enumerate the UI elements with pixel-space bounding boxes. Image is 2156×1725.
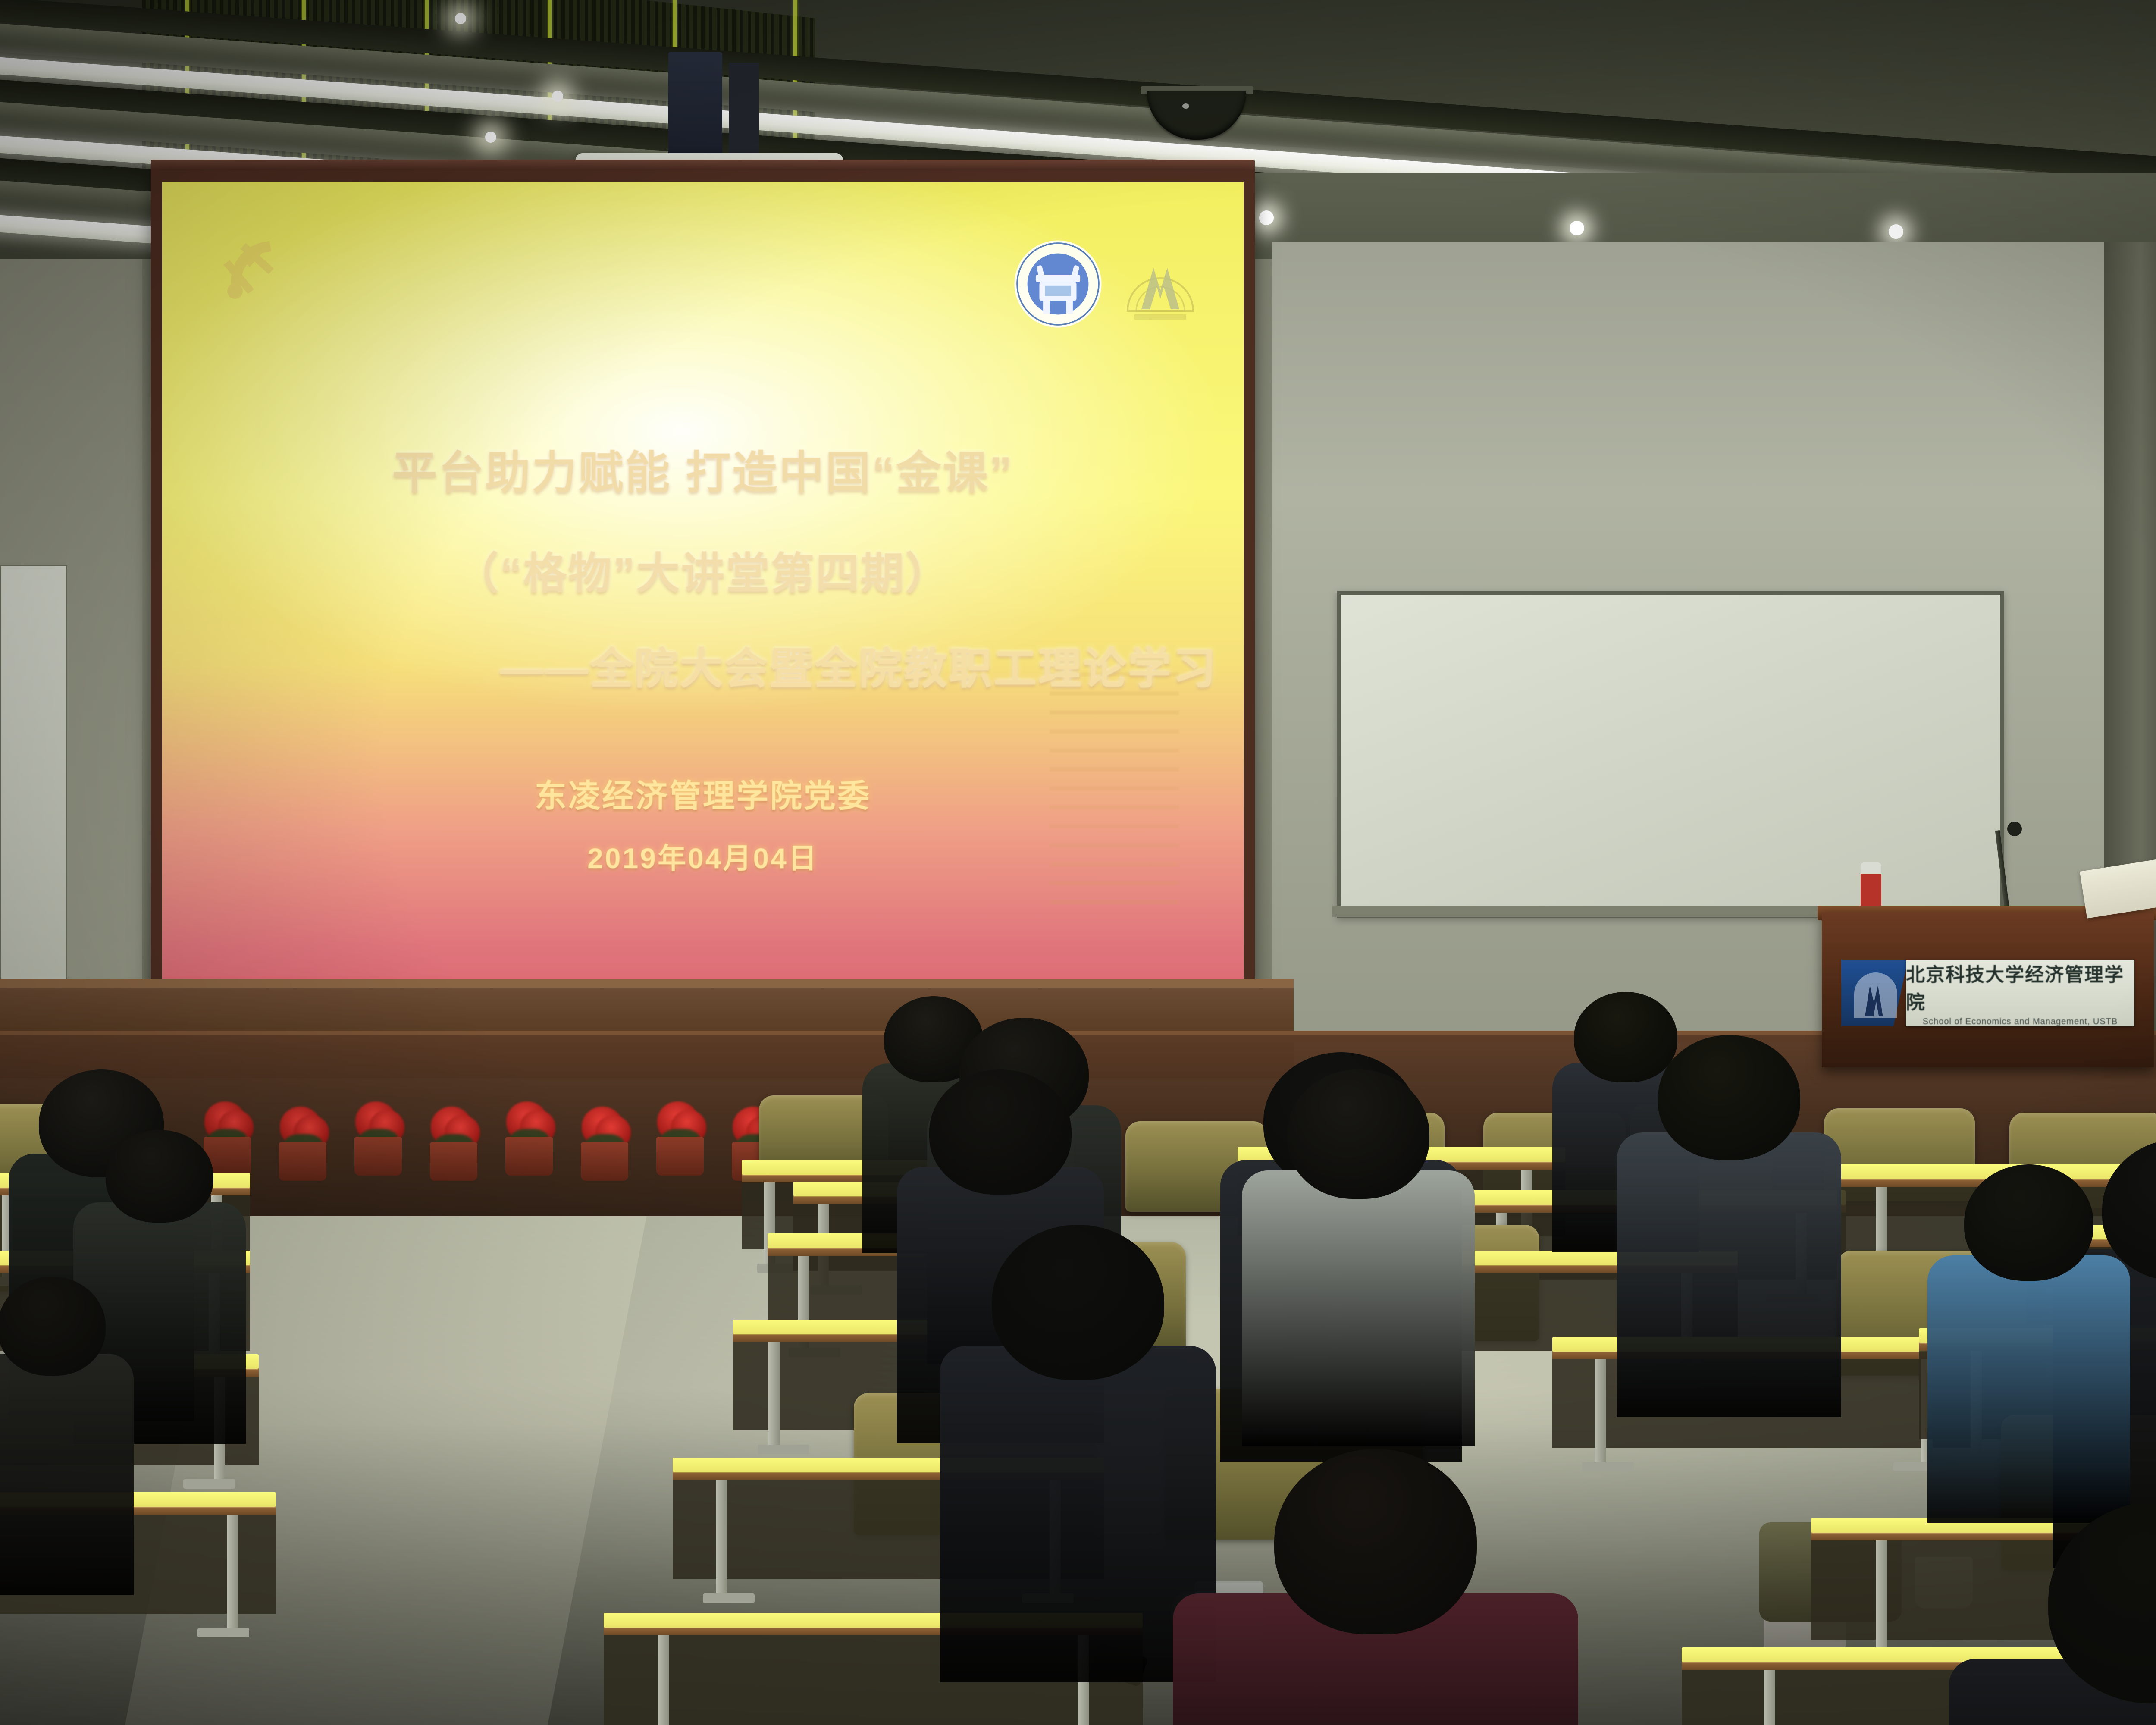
lecture-hall-photo: EPSON: [0, 0, 2156, 1725]
desk-leg: [716, 1479, 727, 1596]
plant-pot: [581, 1142, 628, 1181]
plant-pot: [656, 1137, 704, 1176]
ceiling-spot-light: [552, 91, 563, 102]
desk-foot: [197, 1628, 249, 1637]
slide-organization: 东凌经济管理学院党委: [535, 770, 871, 816]
projector-mount-arm: [729, 63, 759, 160]
poinsettia-plant: [509, 1104, 552, 1177]
desk-foot: [758, 1445, 809, 1454]
desk-leg: [1764, 1669, 1775, 1725]
person-torso: [1242, 1170, 1475, 1446]
person-torso: [1927, 1255, 2130, 1523]
poinsettia-plant: [358, 1104, 401, 1177]
attendee-glasses: [1617, 1035, 1841, 1320]
person-head: [106, 1130, 213, 1223]
person-head: [1274, 1449, 1477, 1634]
person-head: [1658, 1035, 1800, 1160]
recessed-downlight: [1259, 210, 1274, 225]
desk-leg: [1876, 1540, 1887, 1656]
whiteboard: [1337, 591, 2004, 918]
desk-foot: [1582, 1462, 1634, 1471]
poinsettia-plant: [584, 1109, 627, 1182]
person-head: [929, 1069, 1072, 1195]
attendee-maroon-front: [1173, 1449, 1578, 1725]
desk-leg: [658, 1634, 669, 1725]
slide-title-line-2: （“格物”大讲堂第四期）: [455, 538, 950, 601]
water-bottle-icon: [1861, 862, 1881, 910]
person-head: [0, 1276, 106, 1376]
person-head: [1287, 1069, 1429, 1199]
person-torso: [1617, 1132, 1841, 1417]
attendee-blue-puffer: [1927, 1164, 2130, 1432]
poinsettia-plant: [282, 1109, 326, 1182]
plant-pot: [505, 1137, 553, 1176]
plant-pot: [279, 1142, 326, 1181]
ceiling-spot-light: [485, 132, 496, 143]
person-head: [992, 1225, 1164, 1380]
slide-title-line-3: ——全院大会暨全院教职工理论学习: [500, 634, 1218, 696]
slide-text-block: 平台助力赋能 打造中国“金课” （“格物”大讲堂第四期） ——全院大会暨全院教职…: [162, 182, 1244, 1013]
person-head: [1964, 1164, 2093, 1281]
slide-title-line-1: 平台助力赋能 打造中国“金课”: [392, 436, 1014, 501]
desk-leg: [227, 1514, 238, 1630]
podium-nameplate: 北京科技大学经济管理学院 School of Economics and Man…: [1906, 960, 2134, 1026]
recessed-downlight: [1889, 224, 1903, 239]
attendee-grey-knit: [1242, 1069, 1475, 1345]
microphone-icon: [2007, 822, 2022, 836]
wall-panel-left: [0, 565, 67, 982]
podium-nameplate-en: School of Economics and Management, USTB: [1923, 1017, 2118, 1027]
podium-nameplate-cn: 北京科技大学经济管理学院: [1906, 959, 2134, 1014]
poinsettia-plant: [433, 1109, 476, 1182]
person-torso: [0, 1354, 134, 1595]
desk-foot: [183, 1479, 235, 1489]
dome-camera-glint: [1182, 103, 1189, 109]
ceiling-spot-light: [455, 13, 466, 24]
desk-foot: [703, 1593, 755, 1603]
desk-leg: [768, 1341, 780, 1447]
projector-mount-arm: [668, 52, 722, 160]
plant-pot: [354, 1137, 402, 1176]
slide-date: 2019年04月04日: [587, 835, 818, 877]
attendee-bottom-right: [1949, 1501, 2156, 1725]
poinsettia-plant: [660, 1104, 703, 1177]
recessed-downlight: [1570, 221, 1584, 235]
desk-leg: [1595, 1358, 1606, 1464]
projection-screen-frame: 平台助力赋能 打造中国“金课” （“格物”大讲堂第四期） ——全院大会暨全院教职…: [151, 170, 1255, 1024]
attendee-left-edge: [0, 1276, 134, 1518]
plant-pot: [430, 1142, 477, 1181]
projection-screen: 平台助力赋能 打造中国“金课” （“格物”大讲堂第四期） ——全院大会暨全院教职…: [162, 182, 1244, 1013]
